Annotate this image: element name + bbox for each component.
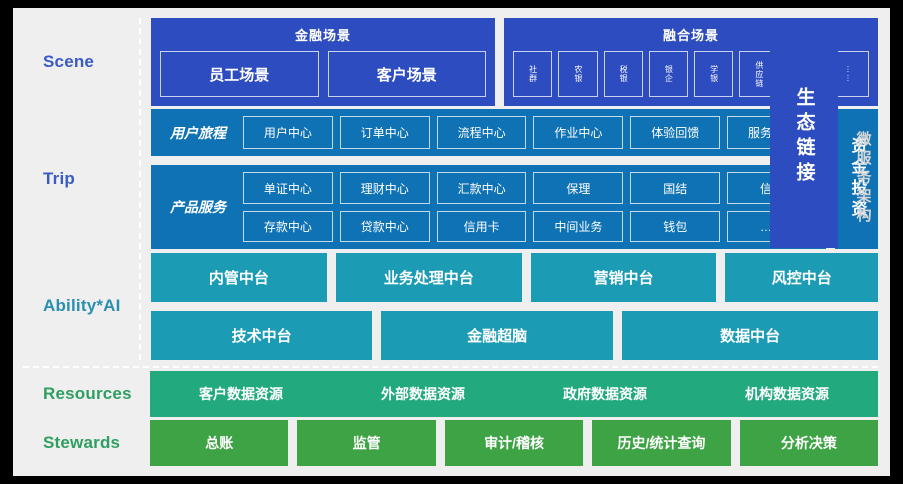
ability-item-data-platform[interactable]: 数据中台 bbox=[622, 311, 878, 360]
product-item-credit-card[interactable]: 信用卡 bbox=[437, 211, 527, 243]
steward-item-history-statistics[interactable]: 历史/统计查询 bbox=[592, 420, 730, 466]
stewards-bar: 总账 监管 审计/稽核 历史/统计查询 分析决策 bbox=[150, 420, 878, 466]
strip-title-journey: 用户旅程 bbox=[160, 123, 236, 143]
panel-title-finance: 金融场景 bbox=[160, 25, 486, 44]
journey-item-process-center[interactable]: 流程中心 bbox=[437, 116, 527, 149]
fusion-item-community[interactable]: 社群 bbox=[513, 51, 552, 97]
product-item-factoring[interactable]: 保理 bbox=[533, 172, 623, 204]
row-label-ability: Ability*AI bbox=[23, 253, 139, 360]
product-item-wealth-center[interactable]: 理财中心 bbox=[340, 172, 430, 204]
dashed-divider-stewards bbox=[139, 420, 140, 466]
product-item-settlement[interactable]: 国结 bbox=[630, 172, 720, 204]
dashed-divider-ability bbox=[139, 253, 141, 360]
dashed-divider bbox=[139, 18, 141, 106]
column-microservice-architecture: 微服务架构 bbox=[848, 108, 878, 248]
architecture-diagram: Scene 金融场景 员工场景 客户场景 融合场景 社群 bbox=[13, 8, 890, 476]
resource-item-government-data[interactable]: 政府数据资源 bbox=[514, 371, 696, 417]
product-item-document-center[interactable]: 单证中心 bbox=[243, 172, 333, 204]
row-label-stewards: Stewards bbox=[23, 420, 139, 466]
product-item-intermediary[interactable]: 中间业务 bbox=[533, 211, 623, 243]
dashed-divider-resources bbox=[139, 371, 140, 417]
fusion-item-tax-bank[interactable]: 税银 bbox=[604, 51, 643, 97]
dashed-divider-trip bbox=[139, 109, 141, 249]
row-scene: Scene 金融场景 员工场景 客户场景 融合场景 社群 bbox=[23, 18, 878, 106]
journey-item-experience-feedback[interactable]: 体验回馈 bbox=[630, 116, 720, 149]
resources-bar: 客户数据资源 外部数据资源 政府数据资源 机构数据资源 bbox=[150, 371, 878, 417]
ability-item-internal-mgmt[interactable]: 内管中台 bbox=[151, 253, 327, 302]
resource-item-customer-data[interactable]: 客户数据资源 bbox=[150, 371, 332, 417]
row-label-resources: Resources bbox=[23, 371, 139, 417]
scene-item-customer[interactable]: 客户场景 bbox=[328, 51, 487, 97]
row-label-trip: Trip bbox=[23, 109, 139, 249]
ability-item-business-process[interactable]: 业务处理中台 bbox=[336, 253, 522, 302]
row-ability: Ability*AI 内管中台 业务处理中台 营销中台 风控中台 技术中台 金融… bbox=[23, 253, 878, 360]
resource-item-institution-data[interactable]: 机构数据资源 bbox=[696, 371, 878, 417]
product-item-deposit-center[interactable]: 存款中心 bbox=[243, 211, 333, 243]
product-item-remittance-center[interactable]: 汇款中心 bbox=[437, 172, 527, 204]
strip-user-journey: 用户旅程 用户中心 订单中心 流程中心 作业中心 体验回馈 服务评价 bbox=[151, 109, 826, 156]
strip-title-product: 产品服务 bbox=[160, 172, 236, 242]
ability-item-risk-control[interactable]: 风控中台 bbox=[725, 253, 878, 302]
row-resources: Resources 客户数据资源 外部数据资源 政府数据资源 机构数据资源 bbox=[23, 371, 878, 417]
ability-item-marketing[interactable]: 营销中台 bbox=[531, 253, 717, 302]
journey-item-user-center[interactable]: 用户中心 bbox=[243, 116, 333, 149]
strip-product-service: 产品服务 单证中心 理财中心 汇款中心 保理 国结 信托 存 bbox=[151, 165, 826, 249]
journey-item-order-center[interactable]: 订单中心 bbox=[340, 116, 430, 149]
journey-item-operation-center[interactable]: 作业中心 bbox=[533, 116, 623, 149]
steward-item-general-ledger[interactable]: 总账 bbox=[150, 420, 288, 466]
ability-item-financial-brain[interactable]: 金融超脑 bbox=[381, 311, 613, 360]
column-ecosystem-link[interactable]: 生态链接 bbox=[770, 26, 838, 248]
product-item-loan-center[interactable]: 贷款中心 bbox=[340, 211, 430, 243]
steward-item-analysis-decision[interactable]: 分析决策 bbox=[740, 420, 878, 466]
steward-item-supervision[interactable]: 监管 bbox=[297, 420, 435, 466]
row-trip: Trip 用户旅程 用户中心 订单中心 流程中心 作业中心 体验回馈 服务评价 bbox=[23, 109, 878, 249]
ability-item-technology[interactable]: 技术中台 bbox=[151, 311, 372, 360]
resource-item-external-data[interactable]: 外部数据资源 bbox=[332, 371, 514, 417]
row-label-scene: Scene bbox=[23, 18, 139, 106]
steward-item-audit[interactable]: 审计/稽核 bbox=[445, 420, 583, 466]
fusion-item-bank-enterprise[interactable]: 银企 bbox=[649, 51, 688, 97]
fusion-item-edu-bank[interactable]: 学银 bbox=[694, 51, 733, 97]
fusion-item-agri-bank[interactable]: 农银 bbox=[558, 51, 597, 97]
scene-item-employee[interactable]: 员工场景 bbox=[160, 51, 319, 97]
panel-finance-scene: 金融场景 员工场景 客户场景 bbox=[151, 18, 495, 106]
row-stewards: Stewards 总账 监管 审计/稽核 历史/统计查询 分析决策 bbox=[23, 420, 878, 466]
product-item-wallet[interactable]: 钱包 bbox=[630, 211, 720, 243]
